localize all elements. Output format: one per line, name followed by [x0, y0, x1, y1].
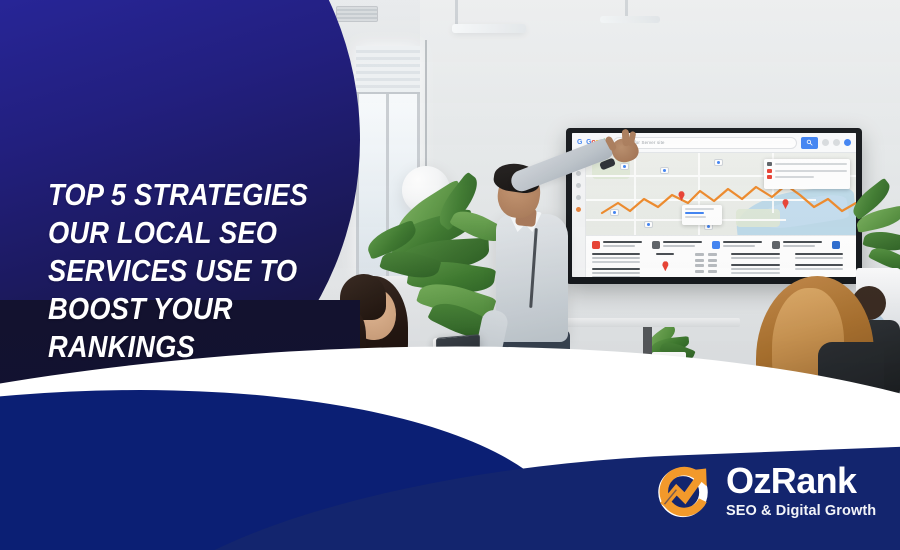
- search-icon: [806, 139, 813, 146]
- map-marker[interactable]: [660, 167, 669, 174]
- map-marker[interactable]: [644, 221, 653, 228]
- water-bottle: [580, 382, 593, 412]
- star-icon[interactable]: [576, 195, 581, 200]
- avatar[interactable]: [844, 139, 851, 146]
- result-card[interactable]: [592, 241, 642, 249]
- map-marker[interactable]: [620, 163, 629, 170]
- remote-control: [560, 422, 586, 431]
- result-card[interactable]: [712, 241, 762, 249]
- result-numbers-column: [695, 253, 722, 277]
- results-header-row: [592, 241, 850, 249]
- map-panel[interactable]: [586, 153, 856, 235]
- pendant-lamp-cord: [425, 40, 427, 168]
- page-title: TOP 5 STRATEGIES OUR LOCAL SEO SERVICES …: [48, 176, 312, 366]
- info-icon[interactable]: [576, 183, 581, 188]
- notifications-icon[interactable]: [833, 139, 840, 146]
- result-card[interactable]: [652, 241, 702, 249]
- map-pin-icon: [662, 261, 669, 271]
- upward-trend-arrow-circle-icon: [650, 458, 716, 524]
- map-info-card: [682, 205, 722, 225]
- brand-logo[interactable]: OzRank SEO & Digital Growth: [650, 458, 876, 524]
- result-card[interactable]: [772, 241, 822, 249]
- logo-wordmark: OzRank SEO & Digital Growth: [726, 463, 876, 519]
- result-chart-column: [656, 253, 686, 277]
- brand-tagline: SEO & Digital Growth: [726, 504, 876, 519]
- search-input[interactable]: search for Server site: [613, 137, 797, 149]
- ceiling-rail: [455, 0, 458, 26]
- blog-banner: G Google search for Server site: [0, 0, 900, 550]
- side-table: [560, 318, 740, 327]
- result-chart-icon: [832, 241, 850, 249]
- map-callout-panel: [764, 159, 850, 189]
- bar-chart: [656, 275, 686, 277]
- brand-name: OzRank: [726, 463, 876, 499]
- ceiling-light-2: [600, 16, 660, 23]
- window-blind: [356, 46, 420, 94]
- monitor: [512, 352, 560, 410]
- map-marker[interactable]: [610, 209, 619, 216]
- result-column: [795, 253, 850, 277]
- computer-mouse: [602, 420, 618, 429]
- result-column: [731, 253, 786, 277]
- search-button[interactable]: [801, 137, 818, 149]
- map-marker[interactable]: [714, 159, 723, 166]
- ceiling-vent: [336, 6, 378, 22]
- monitor-stand: [530, 408, 540, 418]
- apps-icon[interactable]: [822, 139, 829, 146]
- ceiling-light: [452, 24, 526, 33]
- results-body: [592, 253, 850, 277]
- google-g-icon: G: [577, 139, 582, 146]
- pin-icon[interactable]: [576, 171, 581, 176]
- result-column: [592, 253, 647, 277]
- toolbar-icons: [822, 139, 851, 146]
- results-panel: [586, 235, 856, 277]
- settings-icon[interactable]: [576, 207, 581, 212]
